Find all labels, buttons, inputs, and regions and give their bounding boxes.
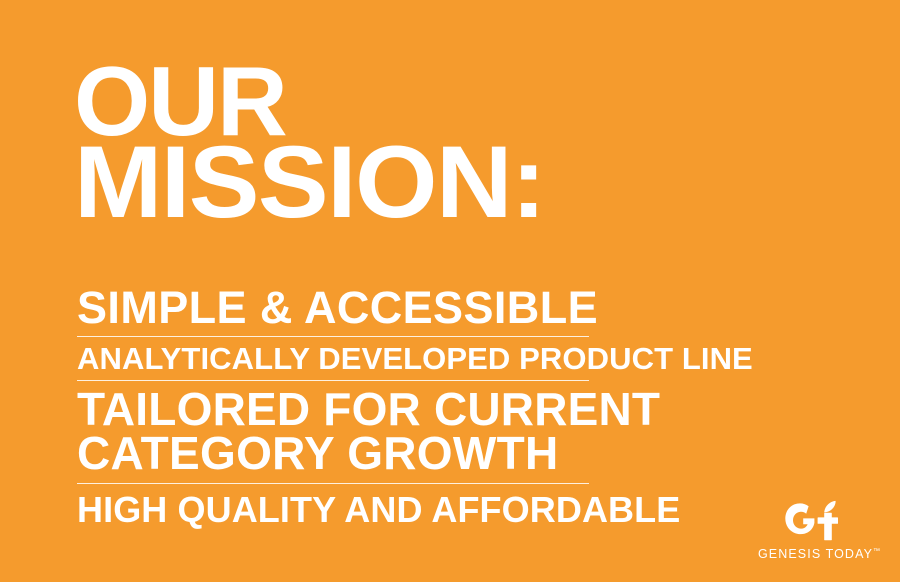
genesis-today-logo: GENESIS TODAY™ bbox=[756, 500, 882, 572]
genesis-today-wordmark: GENESIS TODAY™ bbox=[756, 547, 882, 561]
trademark-symbol: ™ bbox=[873, 548, 880, 555]
mission-item-high-quality-affordable: HIGH QUALITY AND AFFORDABLE bbox=[77, 484, 589, 530]
mission-item-tailored-line-2: CATEGORY GROWTH bbox=[77, 431, 589, 475]
mission-item-tailored-growth: TAILORED FOR CURRENT CATEGORY GROWTH bbox=[77, 381, 589, 479]
headline-line-mission: MISSION: bbox=[74, 138, 545, 228]
mission-item-tailored-line-1: TAILORED FOR CURRENT bbox=[77, 387, 589, 431]
mission-item-analytically-developed: ANALYTICALLY DEVELOPED PRODUCT LINE bbox=[77, 337, 589, 378]
mission-slide: OUR MISSION: SIMPLE & ACCESSIBLE ANALYTI… bbox=[0, 0, 900, 582]
mission-statement-list: SIMPLE & ACCESSIBLE ANALYTICALLY DEVELOP… bbox=[77, 284, 589, 530]
gt-monogram-icon bbox=[784, 500, 854, 546]
genesis-today-logo-mark bbox=[756, 500, 882, 546]
page-title: OUR MISSION: bbox=[74, 58, 527, 228]
mission-item-simple-accessible: SIMPLE & ACCESSIBLE bbox=[77, 284, 589, 334]
wordmark-text: GENESIS TODAY bbox=[758, 547, 873, 561]
